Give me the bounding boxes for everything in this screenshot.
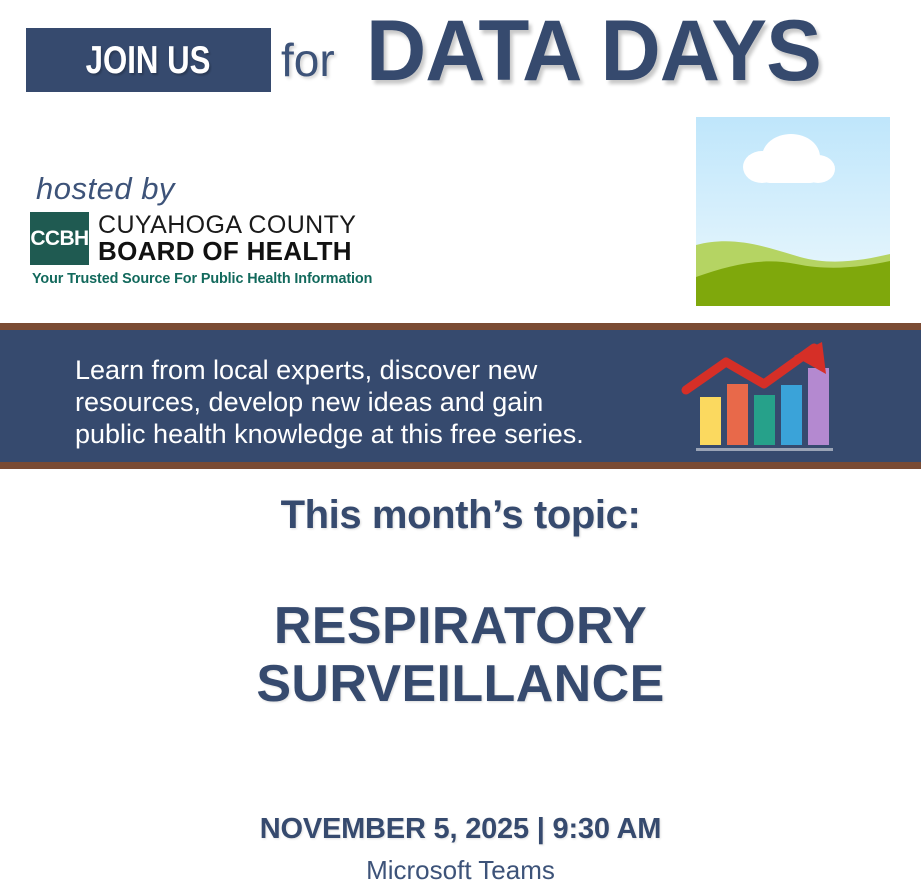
page-title: DATA DAYS — [366, 5, 821, 97]
join-us-badge: JOIN US — [26, 28, 271, 92]
topic-label: This month’s topic: — [0, 491, 921, 539]
chart-bar-4 — [781, 385, 802, 445]
topic-title-line-1: RESPIRATORY — [0, 597, 921, 655]
ccbh-org-line-1: CUYAHOGA COUNTY — [98, 212, 356, 238]
chart-baseline — [696, 448, 833, 451]
chart-bar-1 — [700, 397, 721, 445]
chart-trend-line — [686, 348, 814, 390]
ccbh-tagline: Your Trusted Source For Public Health In… — [32, 270, 372, 288]
topic-title: RESPIRATORY SURVEILLANCE — [0, 597, 921, 713]
join-us-badge-label: JOIN US — [86, 41, 211, 80]
chart-bar-2 — [727, 384, 748, 445]
ccbh-logo-mark-label: CCBH — [30, 228, 88, 249]
chart-bar-3 — [754, 395, 775, 445]
topic-title-line-2: SURVEILLANCE — [0, 655, 921, 713]
flyer-header: JOIN US for DATA DAYS — [0, 0, 921, 112]
info-banner-text: Learn from local experts, discover new r… — [75, 354, 655, 450]
chart-bar-5 — [808, 368, 829, 445]
info-banner: Learn from local experts, discover new r… — [0, 323, 921, 469]
event-platform: Microsoft Teams — [0, 854, 921, 886]
info-banner-line-2: resources, develop new ideas and gain — [75, 386, 655, 418]
header-connector-word: for — [281, 30, 335, 90]
growth-bar-chart-icon — [680, 340, 840, 460]
ccbh-logo: CCBH CUYAHOGA COUNTY BOARD OF HEALTH — [30, 212, 356, 265]
event-datetime: NOVEMBER 5, 2025 | 9:30 AM — [0, 812, 921, 846]
info-banner-line-1: Learn from local experts, discover new — [75, 354, 655, 386]
info-banner-line-3: public health knowledge at this free ser… — [75, 418, 655, 450]
ccbh-logo-mark: CCBH — [30, 212, 89, 265]
landscape-hills-cloud-illustration — [696, 117, 890, 306]
ccbh-org-line-2: BOARD OF HEALTH — [98, 238, 356, 265]
ccbh-logo-wordmark: CUYAHOGA COUNTY BOARD OF HEALTH — [98, 212, 356, 265]
hosted-by-label: hosted by — [36, 172, 175, 206]
